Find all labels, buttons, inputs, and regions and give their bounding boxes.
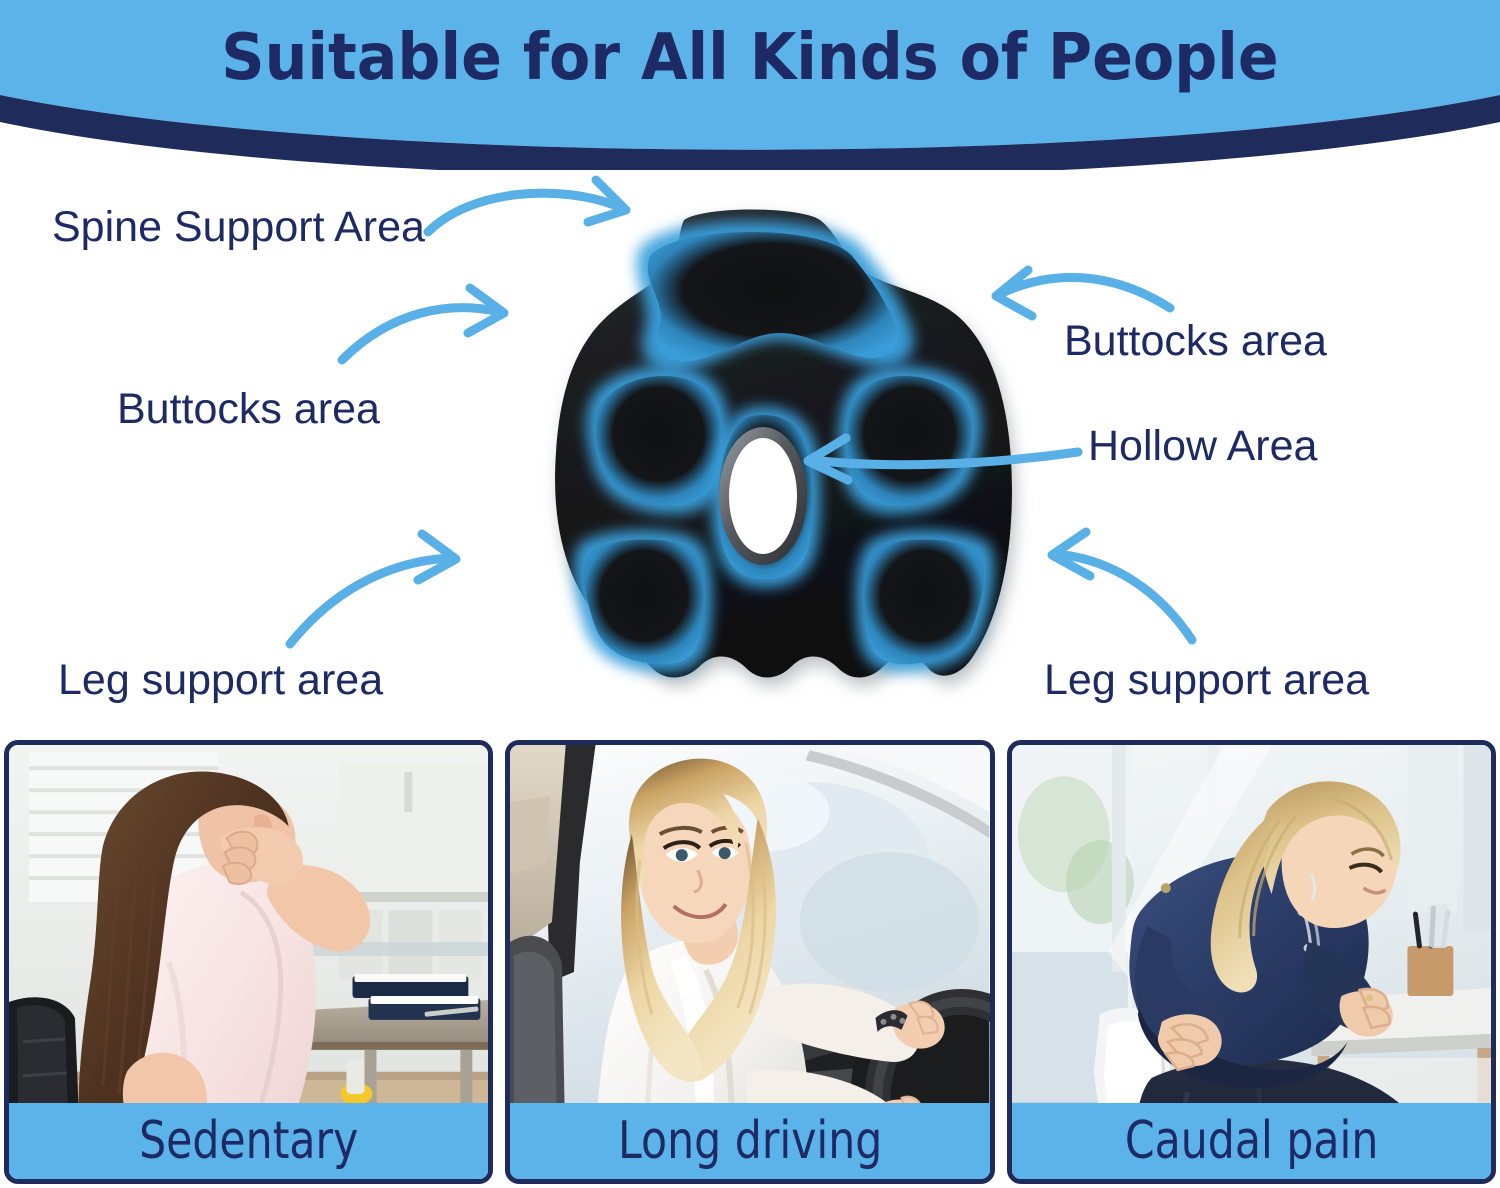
zone-leg-support-left [574, 530, 712, 672]
product-diagram: Spine Support Area Buttocks area Buttock… [0, 170, 1500, 735]
caption-bar-caudal-pain: Caudal pain [1012, 1103, 1491, 1179]
caption-label-long-driving: Long driving [618, 1112, 882, 1170]
page-title: Suitable for All Kinds of People [45, 20, 1455, 96]
label-hollow-area: Hollow Area [1088, 425, 1317, 468]
use-case-card-sedentary[interactable]: Sedentary [4, 740, 493, 1184]
infographic-page: Suitable for All Kinds of People [0, 0, 1500, 1188]
use-case-cards: Sedentary [0, 740, 1500, 1188]
hollow-cutout [729, 438, 797, 554]
arrow-leg-support-right [1052, 532, 1192, 640]
header-banner: Suitable for All Kinds of People [0, 0, 1500, 170]
use-case-card-caudal-pain[interactable]: Caudal pain [1007, 740, 1496, 1184]
seat-cushion-image [432, 190, 1072, 720]
label-leg-support-right: Leg support area [1044, 659, 1369, 702]
label-buttocks-area-left: Buttocks area [117, 388, 380, 431]
label-leg-support-left: Leg support area [58, 659, 383, 702]
caption-label-sedentary: Sedentary [139, 1112, 358, 1170]
use-case-card-long-driving[interactable]: Long driving [505, 740, 994, 1184]
caption-bar-sedentary: Sedentary [9, 1103, 488, 1179]
caption-bar-long-driving: Long driving [510, 1103, 989, 1179]
caption-label-caudal-pain: Caudal pain [1125, 1112, 1379, 1170]
zone-hollow-area [712, 407, 821, 588]
label-buttocks-area-right: Buttocks area [1064, 320, 1327, 363]
label-spine-support-area: Spine Support Area [52, 206, 425, 249]
